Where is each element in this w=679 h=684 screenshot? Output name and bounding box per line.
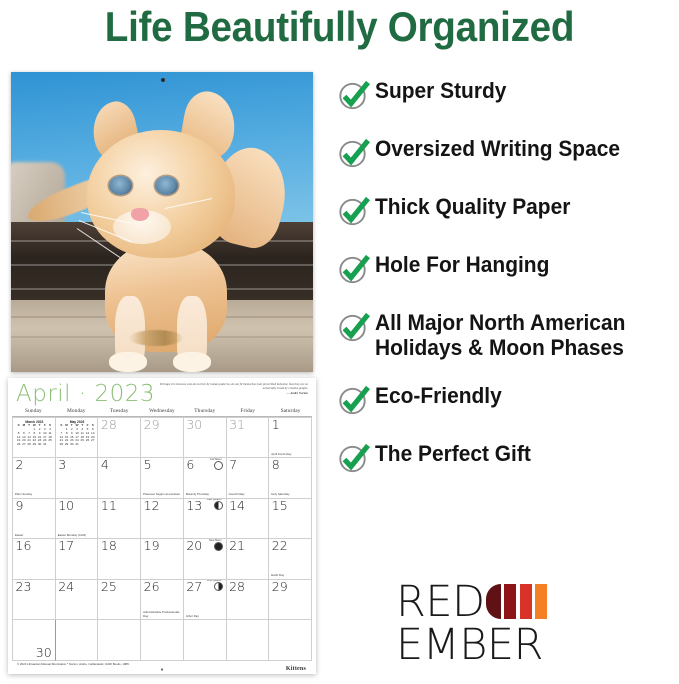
calendar-cell: 8Holy Saturday bbox=[269, 458, 312, 499]
calendar-day-number: 28 bbox=[229, 580, 245, 594]
calendar-event-label: Good Friday bbox=[229, 493, 267, 497]
calendar-day-number: 19 bbox=[144, 539, 160, 553]
calendar-cell: 7Good Friday bbox=[227, 458, 270, 499]
check-circle-icon bbox=[337, 251, 375, 287]
calendar-cell: 20New Moon bbox=[184, 539, 227, 580]
calendar-day-number: 11 bbox=[101, 499, 117, 513]
check-circle-icon bbox=[337, 382, 375, 418]
calendar-cell: 27First QuarterArbor Day bbox=[184, 580, 227, 621]
calendar-cell: May 2023SMTWTFS1234567891011121314151617… bbox=[56, 418, 99, 459]
calendar-cell bbox=[269, 620, 312, 661]
feature-label: Eco-Friendly bbox=[375, 381, 502, 408]
calendar-day-number: 28 bbox=[101, 418, 117, 432]
calendar-event-label: Easter bbox=[15, 534, 53, 538]
calendar-day-number: 16 bbox=[16, 539, 32, 553]
weekday-wednesday: Wednesday bbox=[141, 407, 184, 416]
feature-item-1: Oversized Writing Space bbox=[337, 134, 679, 171]
calendar-cell: 12 bbox=[141, 499, 184, 540]
calendar-cell: March 2023SMTWTFS12345678910111213141516… bbox=[13, 418, 56, 459]
logo-line-one: RED bbox=[396, 582, 666, 622]
calendar-cell: 5Passover begins at sundown bbox=[141, 458, 184, 499]
calendar-header: April · 2023 Perhaps it is because cats … bbox=[12, 381, 312, 407]
feature-label: All Major North American Holidays & Moon… bbox=[375, 308, 625, 360]
check-circle-icon bbox=[337, 77, 375, 113]
check-circle-icon bbox=[337, 135, 375, 171]
calendar-cell: 23 bbox=[13, 580, 56, 621]
calendar-day-number: 7 bbox=[229, 458, 237, 472]
calendar-copyright: © 2022 Lithuanian Manual Illumination * … bbox=[17, 662, 130, 666]
calendar-cell: 30 bbox=[184, 418, 227, 459]
calendar-day-number: 30 bbox=[186, 418, 202, 432]
calendar-day-number: 26 bbox=[144, 580, 160, 594]
weekday-saturday: Saturday bbox=[269, 407, 312, 416]
weekday-monday: Monday bbox=[55, 407, 98, 416]
calendar-cell: 28 bbox=[227, 580, 270, 621]
calendar-cell: 28 bbox=[98, 418, 141, 459]
calendar-day-grid: March 2023SMTWTFS12345678910111213141516… bbox=[12, 417, 312, 661]
calendar-cell: 29 bbox=[141, 418, 184, 459]
calendar-cell bbox=[141, 620, 184, 661]
calendar-quote: Perhaps it is because cats do not live b… bbox=[158, 382, 308, 395]
calendar-event-label: Arbor Day bbox=[186, 615, 224, 619]
moon-phase-label: Last Quarter bbox=[192, 499, 222, 502]
calendar-page: April · 2023 Perhaps it is because cats … bbox=[8, 378, 316, 674]
feature-item-2: Thick Quality Paper bbox=[337, 192, 679, 229]
print-mark-icon: ♦ bbox=[161, 667, 164, 673]
kitten-paw-left bbox=[109, 352, 147, 372]
calendar-cell: 4 bbox=[98, 458, 141, 499]
calendar-cell: 14 bbox=[227, 499, 270, 540]
feature-item-0: Super Sturdy bbox=[337, 76, 679, 113]
photo-straw bbox=[129, 330, 183, 346]
calendar-day-number: 9 bbox=[16, 499, 24, 513]
calendar-footer: © 2022 Lithuanian Manual Illumination * … bbox=[12, 661, 312, 683]
moon-phase-new-icon: New Moon bbox=[214, 542, 223, 551]
calendar-event-label: Earth Day bbox=[271, 574, 309, 578]
calendar-cell: 15 bbox=[269, 499, 312, 540]
calendar-day-number: 18 bbox=[101, 539, 117, 553]
feature-label: Thick Quality Paper bbox=[375, 192, 570, 219]
kitten-paw-right bbox=[173, 352, 211, 372]
kitten-eye-left bbox=[109, 176, 132, 195]
calendar-cell bbox=[56, 620, 99, 661]
calendar-day-number: 29 bbox=[144, 418, 160, 432]
calendar-event-label: April Fool's Day bbox=[271, 453, 309, 457]
feature-label: The Perfect Gift bbox=[375, 439, 531, 466]
weekday-friday: Friday bbox=[226, 407, 269, 416]
calendar-day-number: 12 bbox=[144, 499, 160, 513]
calendar-day-number: 14 bbox=[229, 499, 245, 513]
mini-day bbox=[90, 443, 95, 447]
mini-month-1: May 2023SMTWTFS1234567891011121314151617… bbox=[59, 420, 96, 447]
calendar-cell: 21 bbox=[227, 539, 270, 580]
calendar-day-number: 2 bbox=[16, 458, 24, 472]
calendar-day-number: 1 bbox=[272, 418, 280, 432]
check-circle-icon bbox=[337, 309, 375, 345]
feature-item-4: All Major North American Holidays & Moon… bbox=[337, 308, 679, 360]
calendar-cell: 1April Fool's Day bbox=[269, 418, 312, 459]
calendar-cell: 29 bbox=[269, 580, 312, 621]
product-feature-graphic: Life Beautifully Organized bbox=[0, 0, 679, 684]
feature-item-5: Eco-Friendly bbox=[337, 381, 679, 418]
calendar-cell: 26Administrative Professionals Day bbox=[141, 580, 184, 621]
calendar-quote-attribution: — Andre Norton bbox=[158, 391, 308, 395]
calendar-day-number: 25 bbox=[101, 580, 117, 594]
logo-word-ember: EMBER bbox=[396, 622, 666, 668]
check-circle-icon bbox=[337, 440, 375, 476]
calendar-cell: 18 bbox=[98, 539, 141, 580]
calendar-day-number: 22 bbox=[272, 539, 288, 553]
calendar-cell: 31 bbox=[227, 418, 270, 459]
calendar-cell: 22Earth Day bbox=[269, 539, 312, 580]
calendar-cell: 17 bbox=[56, 539, 99, 580]
calendar-preview: April · 2023 Perhaps it is because cats … bbox=[8, 68, 316, 676]
kitten-photo bbox=[11, 72, 313, 372]
bar-maroon bbox=[486, 584, 501, 619]
moon-phase-full-icon: Full Moon bbox=[214, 461, 223, 470]
calendar-cell: 10Easter Monday (CAN) bbox=[56, 499, 99, 540]
calendar-day-number: 29 bbox=[272, 580, 288, 594]
calendar-cell: 16 bbox=[13, 539, 56, 580]
calendar-day-number: 23 bbox=[16, 580, 32, 594]
calendar-day-number: 24 bbox=[58, 580, 74, 594]
calendar-cell: 13Last Quarter bbox=[184, 499, 227, 540]
calendar-cell: 2Palm Sunday bbox=[13, 458, 56, 499]
photo-kitten bbox=[65, 90, 280, 372]
weekday-tuesday: Tuesday bbox=[98, 407, 141, 416]
calendar-cell: 24 bbox=[56, 580, 99, 621]
calendar-cell bbox=[98, 620, 141, 661]
calendar-day-number: 17 bbox=[58, 539, 74, 553]
calendar-cell: 6Full MoonMaundy Thursday bbox=[184, 458, 227, 499]
calendar-day-number: 3 bbox=[58, 458, 66, 472]
moon-phase-label: First Quarter bbox=[192, 580, 222, 583]
calendar-day-number: 21 bbox=[229, 539, 245, 553]
weekday-sunday: Sunday bbox=[12, 407, 55, 416]
calendar-cell: 30 bbox=[13, 620, 56, 661]
calendar-weekday-header: Sunday Monday Tuesday Wednesday Thursday… bbox=[12, 407, 312, 417]
calendar-event-label: Maundy Thursday bbox=[186, 493, 224, 497]
calendar-day-number: 15 bbox=[272, 499, 288, 513]
bar-dark-red bbox=[504, 584, 516, 619]
calendar-cell: 19 bbox=[141, 539, 184, 580]
feature-item-6: The Perfect Gift bbox=[337, 439, 679, 476]
feature-label: Oversized Writing Space bbox=[375, 134, 620, 161]
calendar-cell bbox=[184, 620, 227, 661]
feature-item-3: Hole For Hanging bbox=[337, 250, 679, 287]
calendar-cell: 3 bbox=[56, 458, 99, 499]
calendar-event-label: Passover begins at sundown bbox=[143, 493, 181, 497]
calendar-day-number: 8 bbox=[272, 458, 280, 472]
calendar-cell: 9Easter bbox=[13, 499, 56, 540]
calendar-event-label: Palm Sunday bbox=[15, 493, 53, 497]
calendar-event-label: Administrative Professionals Day bbox=[143, 611, 181, 618]
calendar-day-number: 31 bbox=[229, 418, 245, 432]
calendar-day-number: 4 bbox=[101, 458, 109, 472]
weekday-thursday: Thursday bbox=[183, 407, 226, 416]
logo-word-red: RED bbox=[396, 582, 485, 622]
feature-label: Super Sturdy bbox=[375, 76, 506, 103]
calendar-theme-name: Kittens bbox=[286, 666, 306, 672]
calendar-day-number: 10 bbox=[58, 499, 74, 513]
calendar-quote-text: Perhaps it is because cats do not live b… bbox=[160, 382, 308, 390]
photo-fly-speck bbox=[161, 78, 165, 82]
check-circle-icon bbox=[337, 193, 375, 229]
feature-list: Super SturdyOversized Writing SpaceThick… bbox=[337, 76, 679, 497]
calendar-event-label: Easter Monday (CAN) bbox=[58, 534, 96, 538]
calendar-event-label: Holy Saturday bbox=[271, 493, 309, 497]
moon-phase-last-icon: Last Quarter bbox=[214, 501, 223, 510]
kitten-eye-right bbox=[155, 176, 178, 195]
calendar-cell bbox=[227, 620, 270, 661]
calendar-month-label: April · 2023 bbox=[16, 381, 155, 407]
feature-label: Hole For Hanging bbox=[375, 250, 549, 277]
calendar-day-number: 30 bbox=[36, 646, 52, 660]
kitten-nose bbox=[131, 208, 149, 221]
bar-orange bbox=[535, 584, 547, 619]
calendar-cell: 11 bbox=[98, 499, 141, 540]
moon-phase-label: Full Moon bbox=[192, 458, 222, 461]
red-ember-logo: RED EMBER bbox=[396, 582, 666, 668]
moon-phase-label: New Moon bbox=[192, 539, 222, 542]
calendar-cell: 25 bbox=[98, 580, 141, 621]
logo-ember-bars bbox=[486, 582, 551, 620]
calendar-day-number: 5 bbox=[144, 458, 152, 472]
mini-month-0: March 2023SMTWTFS12345678910111213141516… bbox=[16, 420, 53, 447]
mini-day bbox=[47, 443, 52, 447]
moon-phase-first-icon: First Quarter bbox=[214, 582, 223, 591]
bar-red bbox=[520, 584, 532, 619]
page-title: Life Beautifully Organized bbox=[27, 2, 652, 52]
